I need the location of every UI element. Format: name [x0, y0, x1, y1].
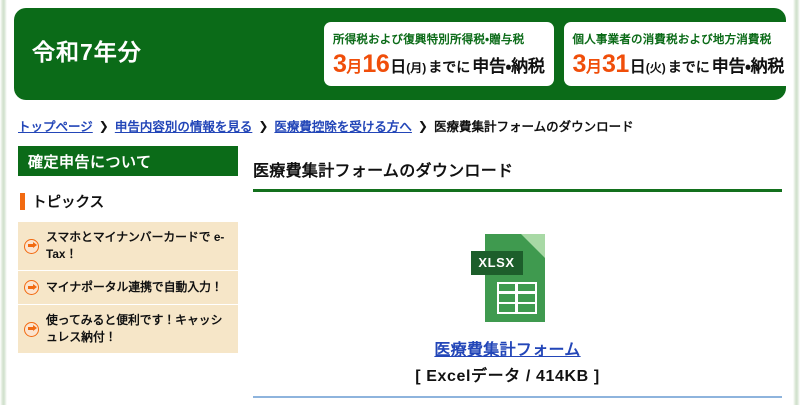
deadline-month-unit: 月: [346, 53, 362, 77]
banner-title: 令和7年分 確定申告特集: [32, 41, 324, 68]
deadline-weekday: (月): [406, 59, 426, 76]
deadline-until: までに: [668, 57, 710, 77]
list-item-label: スマホとマイナンバーカードで e-Tax！: [46, 229, 230, 263]
deadline-month: 3: [573, 50, 586, 79]
deadline-until: までに: [428, 57, 470, 77]
sidebar-item-myna-portal[interactable]: マイナポータル連携で自動入力！: [18, 271, 238, 305]
site-banner: 令和7年分 確定申告特集 所得税および復興特別所得税・贈与税 3月16日(月)ま…: [14, 8, 786, 100]
deadline-day: 31: [602, 50, 629, 79]
deadline-box-consumption-tax: 個人事業者の消費税および地方消費税 3月31日(火)までに申告・納税: [564, 22, 794, 86]
breadcrumb-separator-icon: ❯: [418, 119, 428, 133]
orange-arrow-circle-icon: [24, 322, 39, 337]
deadline-heading: 所得税および復興特別所得税・贈与税: [333, 31, 545, 47]
download-file-link[interactable]: 医療費集計フォーム: [434, 336, 580, 360]
deadline-month-unit: 月: [586, 53, 602, 77]
deadline-date-line: 3月16日(月)までに申告・納税: [333, 50, 545, 79]
page-left-edge-strip: [0, 0, 7, 405]
xlsx-icon-fold-corner: [521, 234, 545, 258]
deadline-weekday: (火): [646, 59, 666, 76]
download-icon-area: XLSX: [253, 234, 782, 322]
file-link-block: 医療費集計フォーム [ Excelデータ / 414KB ]: [253, 336, 782, 386]
deadline-day-unit: 日: [630, 53, 646, 77]
list-item-label: 使ってみると便利です！キャッシュレス納付！: [46, 312, 230, 346]
orange-arrow-circle-icon: [24, 239, 39, 254]
deadline-heading: 個人事業者の消費税および地方消費税: [573, 31, 785, 47]
file-format-size: [ Excelデータ / 414KB ]: [253, 362, 762, 386]
deadline-box-income-tax: 所得税および復興特別所得税・贈与税 3月16日(月)までに申告・納税: [324, 22, 554, 86]
content-divider: [253, 396, 782, 398]
sidebar: 確定申告について トピックス スマホとマイナンバーカードで e-Tax！ マイナ…: [18, 146, 238, 353]
deadline-action: 申告・納税: [712, 52, 784, 77]
main-content: 医療費集計フォームのダウンロード XLSX 医療費集計フォーム [ Excelデ…: [253, 146, 782, 405]
deadline-month: 3: [333, 50, 346, 79]
topics-heading-row: トピックス: [20, 191, 238, 212]
orange-bar-marker-icon: [20, 193, 25, 210]
page-title: 医療費集計フォームのダウンロード: [253, 157, 782, 192]
deadline-box-group: 所得税および復興特別所得税・贈与税 3月16日(月)までに申告・納税 個人事業者…: [324, 22, 793, 86]
breadcrumb-separator-icon: ❯: [258, 119, 268, 133]
page-root: 令和7年分 確定申告特集 所得税および復興特別所得税・贈与税 3月16日(月)ま…: [0, 0, 800, 405]
xlsx-file-icon[interactable]: XLSX: [471, 234, 545, 322]
breadcrumb-link-by-content[interactable]: 申告内容別の情報を見る: [115, 116, 253, 135]
sidebar-heading: 確定申告について: [18, 146, 238, 176]
breadcrumb: トップページ ❯ 申告内容別の情報を見る ❯ 医療費控除を受ける方へ ❯ 医療費…: [18, 116, 634, 135]
topics-label: トピックス: [32, 191, 104, 212]
page-right-edge-strip: [793, 0, 800, 405]
deadline-date-line: 3月31日(火)までに申告・納税: [573, 50, 785, 79]
orange-arrow-circle-icon: [24, 280, 39, 295]
deadline-day-unit: 日: [390, 53, 406, 77]
breadcrumb-link-top[interactable]: トップページ: [18, 116, 93, 135]
deadline-action: 申告・納税: [472, 52, 544, 77]
breadcrumb-separator-icon: ❯: [99, 119, 109, 133]
deadline-day: 16: [362, 50, 389, 79]
topics-list: スマホとマイナンバーカードで e-Tax！ マイナポータル連携で自動入力！ 使っ…: [18, 222, 238, 353]
list-item-label: マイナポータル連携で自動入力！: [46, 279, 223, 296]
xlsx-icon-badge: XLSX: [471, 251, 523, 275]
sidebar-item-cashless[interactable]: 使ってみると便利です！キャッシュレス納付！: [18, 305, 238, 353]
banner-year-label: 令和7年分: [32, 41, 324, 64]
breadcrumb-current: 医療費集計フォームのダウンロード: [434, 116, 634, 135]
breadcrumb-link-medical-deduction[interactable]: 医療費控除を受ける方へ: [274, 116, 412, 135]
xlsx-icon-table-glyph: [497, 282, 537, 314]
sidebar-item-etax[interactable]: スマホとマイナンバーカードで e-Tax！: [18, 222, 238, 271]
